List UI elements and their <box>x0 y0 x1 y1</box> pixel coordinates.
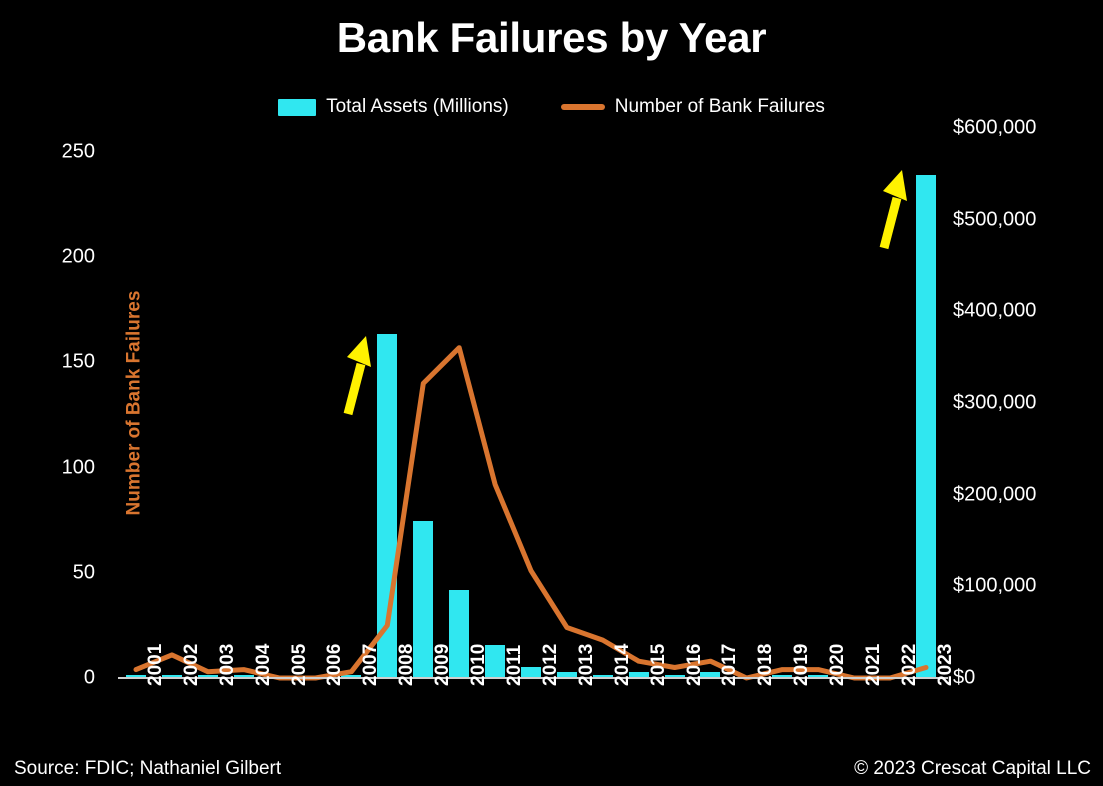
x-axis-tick-label: 2005 <box>289 644 311 686</box>
x-axis-tick-2011: 2011 <box>477 684 513 754</box>
x-axis-tick-2010: 2010 <box>441 684 477 754</box>
x-axis-tick-label: 2023 <box>935 644 957 686</box>
x-axis-tick-2016: 2016 <box>657 684 693 754</box>
x-axis-tick-2021: 2021 <box>836 684 872 754</box>
x-axis-ticks: 2001200220032004200520062007200820092010… <box>118 684 944 754</box>
y-axis-right-tick: $200,000 <box>953 483 1036 506</box>
x-axis-tick-label: 2008 <box>396 644 418 686</box>
y-axis-left-tick: 100 <box>62 456 95 479</box>
x-axis-tick-label: 2020 <box>827 644 849 686</box>
x-axis-tick-label: 2003 <box>217 644 239 686</box>
y-axis-right-tick: $300,000 <box>953 392 1036 415</box>
x-axis-tick-2007: 2007 <box>333 684 369 754</box>
x-axis-tick-label: 2004 <box>253 644 275 686</box>
x-axis-tick-2018: 2018 <box>728 684 764 754</box>
x-axis-tick-2019: 2019 <box>764 684 800 754</box>
y-axis-left-tick: 50 <box>73 561 95 584</box>
arrow-2023-icon <box>866 168 922 252</box>
legend-item-bank-failures[interactable]: Number of Bank Failures <box>561 96 825 118</box>
x-axis-tick-label: 2014 <box>612 644 634 686</box>
plot-area <box>118 128 944 678</box>
x-axis-tick-2002: 2002 <box>154 684 190 754</box>
y-axis-left-tick: 0 <box>84 667 95 690</box>
x-axis-tick-label: 2010 <box>468 644 490 686</box>
x-axis-tick-2004: 2004 <box>226 684 262 754</box>
x-axis-tick-label: 2022 <box>899 644 921 686</box>
y-axis-left-tick: 250 <box>62 141 95 164</box>
y-axis-right-tick: $500,000 <box>953 208 1036 231</box>
x-axis-tick-label: 2006 <box>324 644 346 686</box>
x-axis-tick-2006: 2006 <box>298 684 334 754</box>
y-axis-left-tick: 150 <box>62 351 95 374</box>
x-axis-tick-label: 2015 <box>648 644 670 686</box>
x-axis-tick-2017: 2017 <box>693 684 729 754</box>
x-axis-tick-label: 2018 <box>755 644 777 686</box>
x-axis-tick-2003: 2003 <box>190 684 226 754</box>
x-axis-tick-label: 2009 <box>432 644 454 686</box>
x-axis-tick-2015: 2015 <box>621 684 657 754</box>
x-axis-tick-2013: 2013 <box>549 684 585 754</box>
x-axis-tick-label: 2013 <box>576 644 598 686</box>
page-title: Bank Failures by Year <box>0 14 1103 62</box>
y-axis-right-tick: $100,000 <box>953 575 1036 598</box>
footer-copyright: © 2023 Crescat Capital LLC <box>854 758 1091 780</box>
chart-root: Bank Failures by Year Total Assets (Mill… <box>0 0 1103 786</box>
x-axis-tick-label: 2021 <box>863 644 885 686</box>
x-axis-tick-label: 2002 <box>181 644 203 686</box>
y-axis-right-tick: $600,000 <box>953 117 1036 140</box>
x-axis-tick-label: 2012 <box>540 644 562 686</box>
x-axis-tick-label: 2019 <box>791 644 813 686</box>
x-axis-tick-2022: 2022 <box>872 684 908 754</box>
x-axis-tick-label: 2007 <box>360 644 382 686</box>
y-axis-right-tick: $400,000 <box>953 300 1036 323</box>
legend-item-total-assets[interactable]: Total Assets (Millions) <box>278 96 509 118</box>
x-axis-tick-2005: 2005 <box>262 684 298 754</box>
line-path-bank-failures <box>136 348 926 678</box>
axis-baseline <box>118 677 948 679</box>
x-axis-tick-label: 2011 <box>504 645 526 686</box>
x-axis-tick-label: 2017 <box>719 644 741 686</box>
x-axis-tick-2012: 2012 <box>513 684 549 754</box>
arrow-2008-icon <box>330 334 386 418</box>
x-axis-tick-2020: 2020 <box>800 684 836 754</box>
x-axis-tick-2009: 2009 <box>405 684 441 754</box>
x-axis-tick-2023: 2023 <box>908 684 944 754</box>
footer-source: Source: FDIC; Nathaniel Gilbert <box>14 758 281 780</box>
legend-label-bank-failures: Number of Bank Failures <box>615 96 825 118</box>
legend-swatch-line-icon <box>561 104 605 110</box>
y-axis-left-tick: 200 <box>62 246 95 269</box>
x-axis-tick-2008: 2008 <box>369 684 405 754</box>
line-series-bank-failures <box>118 128 944 678</box>
legend-label-total-assets: Total Assets (Millions) <box>326 96 509 118</box>
x-axis-tick-label: 2016 <box>684 644 706 686</box>
legend: Total Assets (Millions) Number of Bank F… <box>0 96 1103 118</box>
x-axis-tick-label: 2001 <box>145 644 167 686</box>
x-axis-tick-2001: 2001 <box>118 684 154 754</box>
legend-swatch-bar-icon <box>278 99 316 116</box>
x-axis-tick-2014: 2014 <box>585 684 621 754</box>
